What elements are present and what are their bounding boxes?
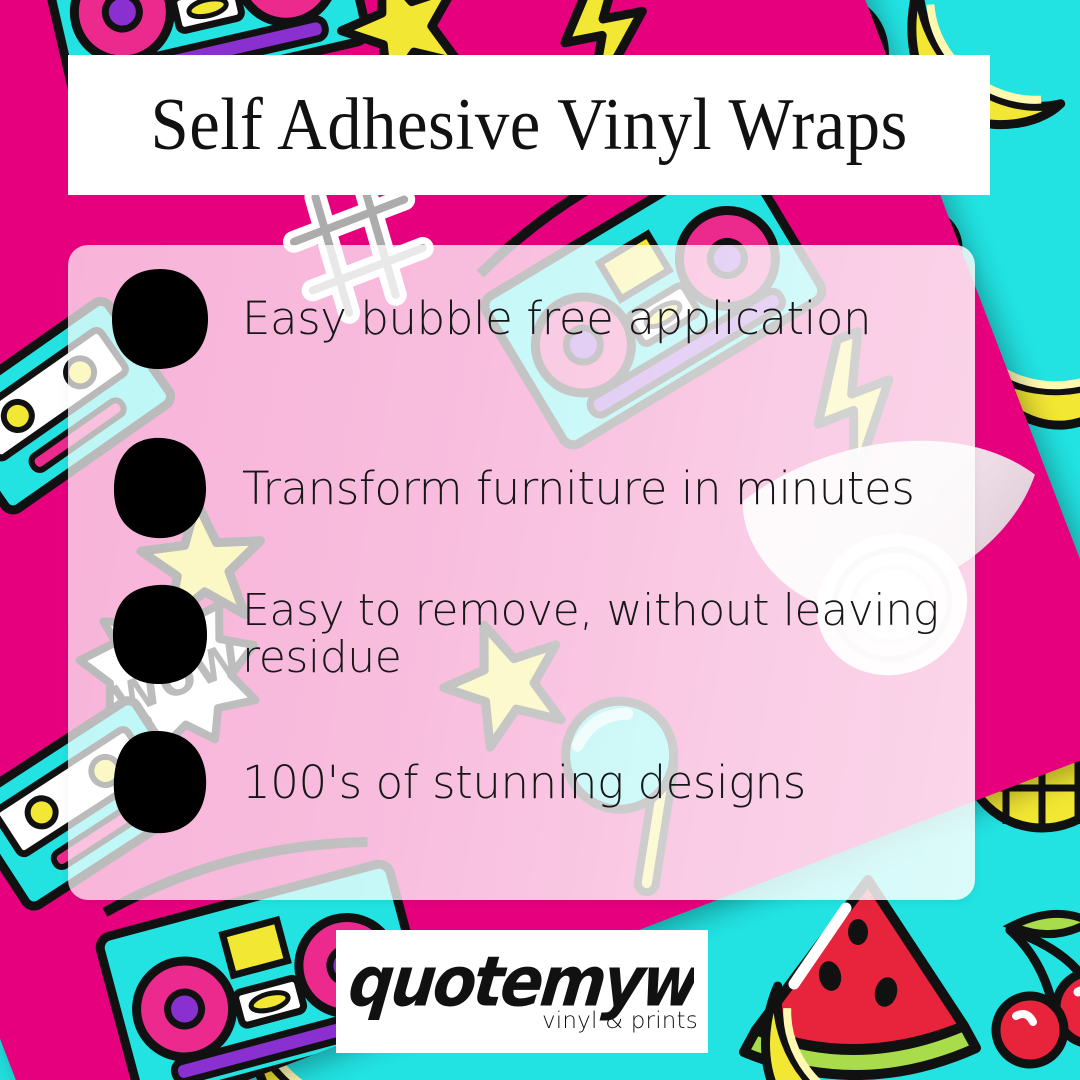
brand-tagline: vinyl & prints: [542, 1008, 698, 1034]
feature-text: Transform furniture in minutes: [242, 465, 914, 513]
feature-list: Easy bubble free application Transform f…: [68, 245, 975, 900]
list-item: Easy to remove, without leaving residue: [110, 583, 951, 687]
bullet-dot-icon: [110, 267, 210, 371]
feature-text: 100's of stunning designs: [242, 759, 806, 807]
features-card: Easy bubble free application Transform f…: [68, 245, 975, 900]
brand-logo-box[interactable]: quotemywall vinyl & prints: [336, 930, 708, 1053]
poster-canvas: WOW: [0, 0, 1080, 1080]
title-bar: Self Adhesive Vinyl Wraps: [68, 55, 990, 195]
feature-text: Easy to remove, without leaving residue: [242, 588, 951, 681]
bullet-dot-icon: [110, 583, 210, 687]
bullet-dot-icon: [110, 437, 210, 541]
list-item: 100's of stunning designs: [110, 731, 951, 835]
page-title: Self Adhesive Vinyl Wraps: [150, 88, 907, 162]
feature-text: Easy bubble free application: [242, 295, 871, 343]
list-item: Easy bubble free application: [110, 267, 951, 371]
bullet-dot-icon: [110, 731, 210, 835]
list-item: Transform furniture in minutes: [110, 437, 951, 541]
